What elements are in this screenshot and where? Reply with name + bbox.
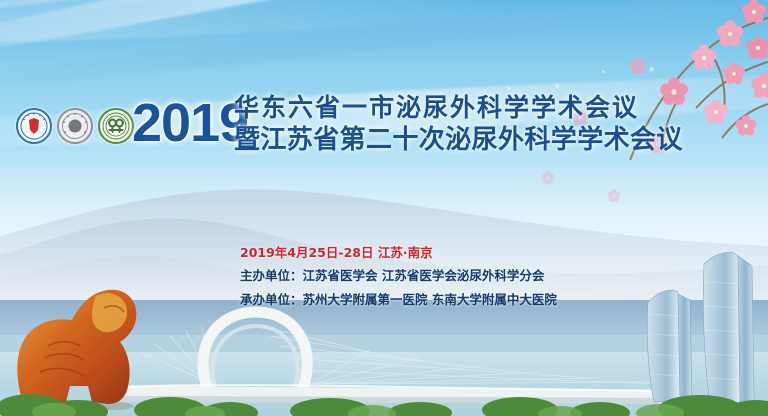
- title-line-2: 暨江苏省第二十次泌尿外科学学术会议: [234, 124, 754, 157]
- organizer-logo-group: [16, 108, 134, 144]
- jiangsu-medical-association-seal[interactable]: [57, 108, 93, 144]
- event-date-location: 2019年4月25日-28日 江苏·南京: [240, 242, 557, 264]
- foreground-foliage: [0, 382, 768, 416]
- chinese-medical-association-logo[interactable]: [16, 108, 52, 144]
- conference-banner: 2019 华东六省一市泌尿外科学学术会议 暨江苏省第二十次泌尿外科学学术会议 2…: [0, 0, 768, 416]
- title-line-1: 华东六省一市泌尿外科学学术会议: [234, 92, 754, 124]
- year-number: 2019: [132, 96, 248, 150]
- page-title: 华东六省一市泌尿外科学学术会议 暨江苏省第二十次泌尿外科学学术会议: [234, 92, 754, 157]
- organizer-institutions-row: 承办单位：苏州大学附属第一医院 东南大学附属中大医院: [240, 288, 557, 312]
- host-organizations-row: 主办单位：江苏省医学会 江苏省医学会泌尿外科学分会: [240, 264, 557, 288]
- urology-branch-logo[interactable]: [98, 108, 134, 144]
- event-info-block: 2019年4月25日-28日 江苏·南京 主办单位：江苏省医学会 江苏省医学会泌…: [240, 242, 557, 312]
